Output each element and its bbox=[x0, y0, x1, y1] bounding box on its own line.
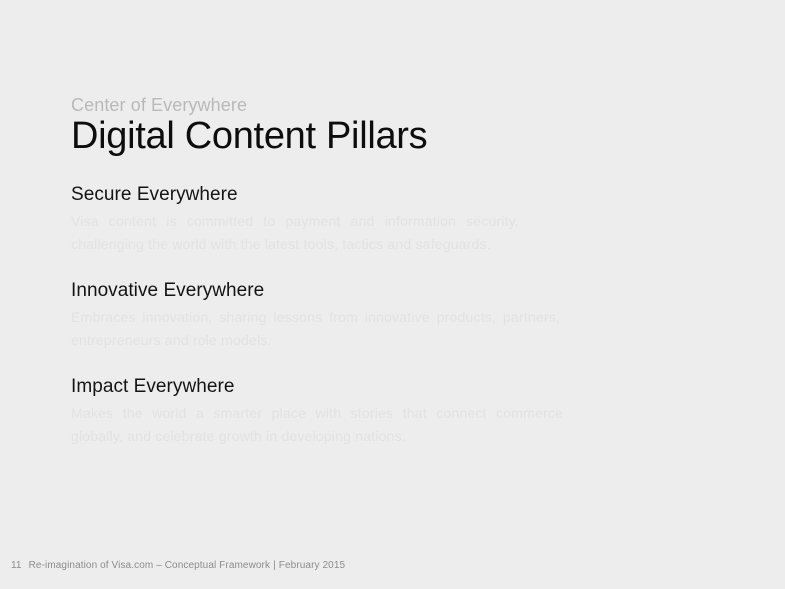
pillar-item-innovative: Innovative Everywhere Embraces innovatio… bbox=[71, 279, 571, 352]
pillar-item-secure: Secure Everywhere Visa content is commit… bbox=[71, 183, 571, 256]
pillar-body-secure: Visa content is committed to payment and… bbox=[71, 210, 519, 256]
slide-kicker: Center of Everywhere bbox=[71, 94, 571, 116]
pillar-heading-secure: Secure Everywhere bbox=[71, 183, 571, 207]
slide-content: Center of Everywhere Digital Content Pil… bbox=[71, 94, 571, 448]
slide-canvas: Center of Everywhere Digital Content Pil… bbox=[0, 0, 785, 589]
pillar-item-impact: Impact Everywhere Makes the world a smar… bbox=[71, 375, 571, 448]
footer-date: February 2015 bbox=[279, 560, 345, 571]
pillar-list: Secure Everywhere Visa content is commit… bbox=[71, 183, 571, 448]
footer-page-number: 11 bbox=[11, 560, 22, 571]
footer-separator: | bbox=[273, 560, 276, 571]
footer-document-title: Re-imagination of Visa.com – Conceptual … bbox=[29, 560, 271, 571]
pillar-body-impact: Makes the world a smarter place with sto… bbox=[71, 402, 563, 448]
pillar-heading-innovative: Innovative Everywhere bbox=[71, 279, 571, 303]
pillar-heading-impact: Impact Everywhere bbox=[71, 375, 571, 399]
slide-footer: 11Re-imagination of Visa.com – Conceptua… bbox=[11, 559, 345, 573]
pillar-body-innovative: Embraces innovation, sharing lessons fro… bbox=[71, 306, 560, 352]
page-title: Digital Content Pillars bbox=[71, 114, 571, 159]
